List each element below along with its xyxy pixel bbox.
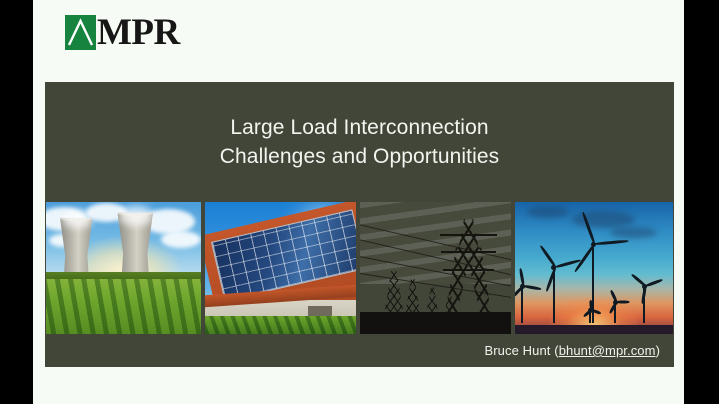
mpr-triangle-mark-icon [65, 15, 96, 50]
rooftop-solar-panels-photo [205, 202, 356, 334]
presenter-byline: Bruce Hunt (bhunt@mpr.com) [484, 343, 660, 358]
presenter-email-link[interactable]: bhunt@mpr.com [559, 343, 656, 358]
nuclear-cooling-towers-photo [46, 202, 201, 334]
slide-title: Large Load Interconnection Challenges an… [45, 82, 674, 202]
video-viewport: MPR Large Load Interconnection Challenge… [0, 0, 719, 404]
paren-open: ( [551, 343, 559, 358]
presentation-slide: MPR Large Load Interconnection Challenge… [33, 0, 684, 404]
mpr-wordmark: MPR [97, 14, 180, 51]
transmission-towers-photo [360, 202, 511, 334]
letterbox-bar-right [684, 0, 719, 404]
slide-footer: Bruce Hunt (bhunt@mpr.com) [45, 334, 674, 367]
slide-content-block: Large Load Interconnection Challenges an… [45, 82, 674, 367]
paren-close: ) [656, 343, 660, 358]
photo-strip [45, 202, 674, 334]
wind-turbines-photo [515, 202, 673, 334]
letterbox-bar-left [0, 0, 33, 404]
mpr-logo: MPR [65, 11, 180, 53]
title-line-2: Challenges and Opportunities [220, 142, 499, 171]
presenter-name: Bruce Hunt [484, 343, 550, 358]
title-line-1: Large Load Interconnection [230, 113, 488, 142]
